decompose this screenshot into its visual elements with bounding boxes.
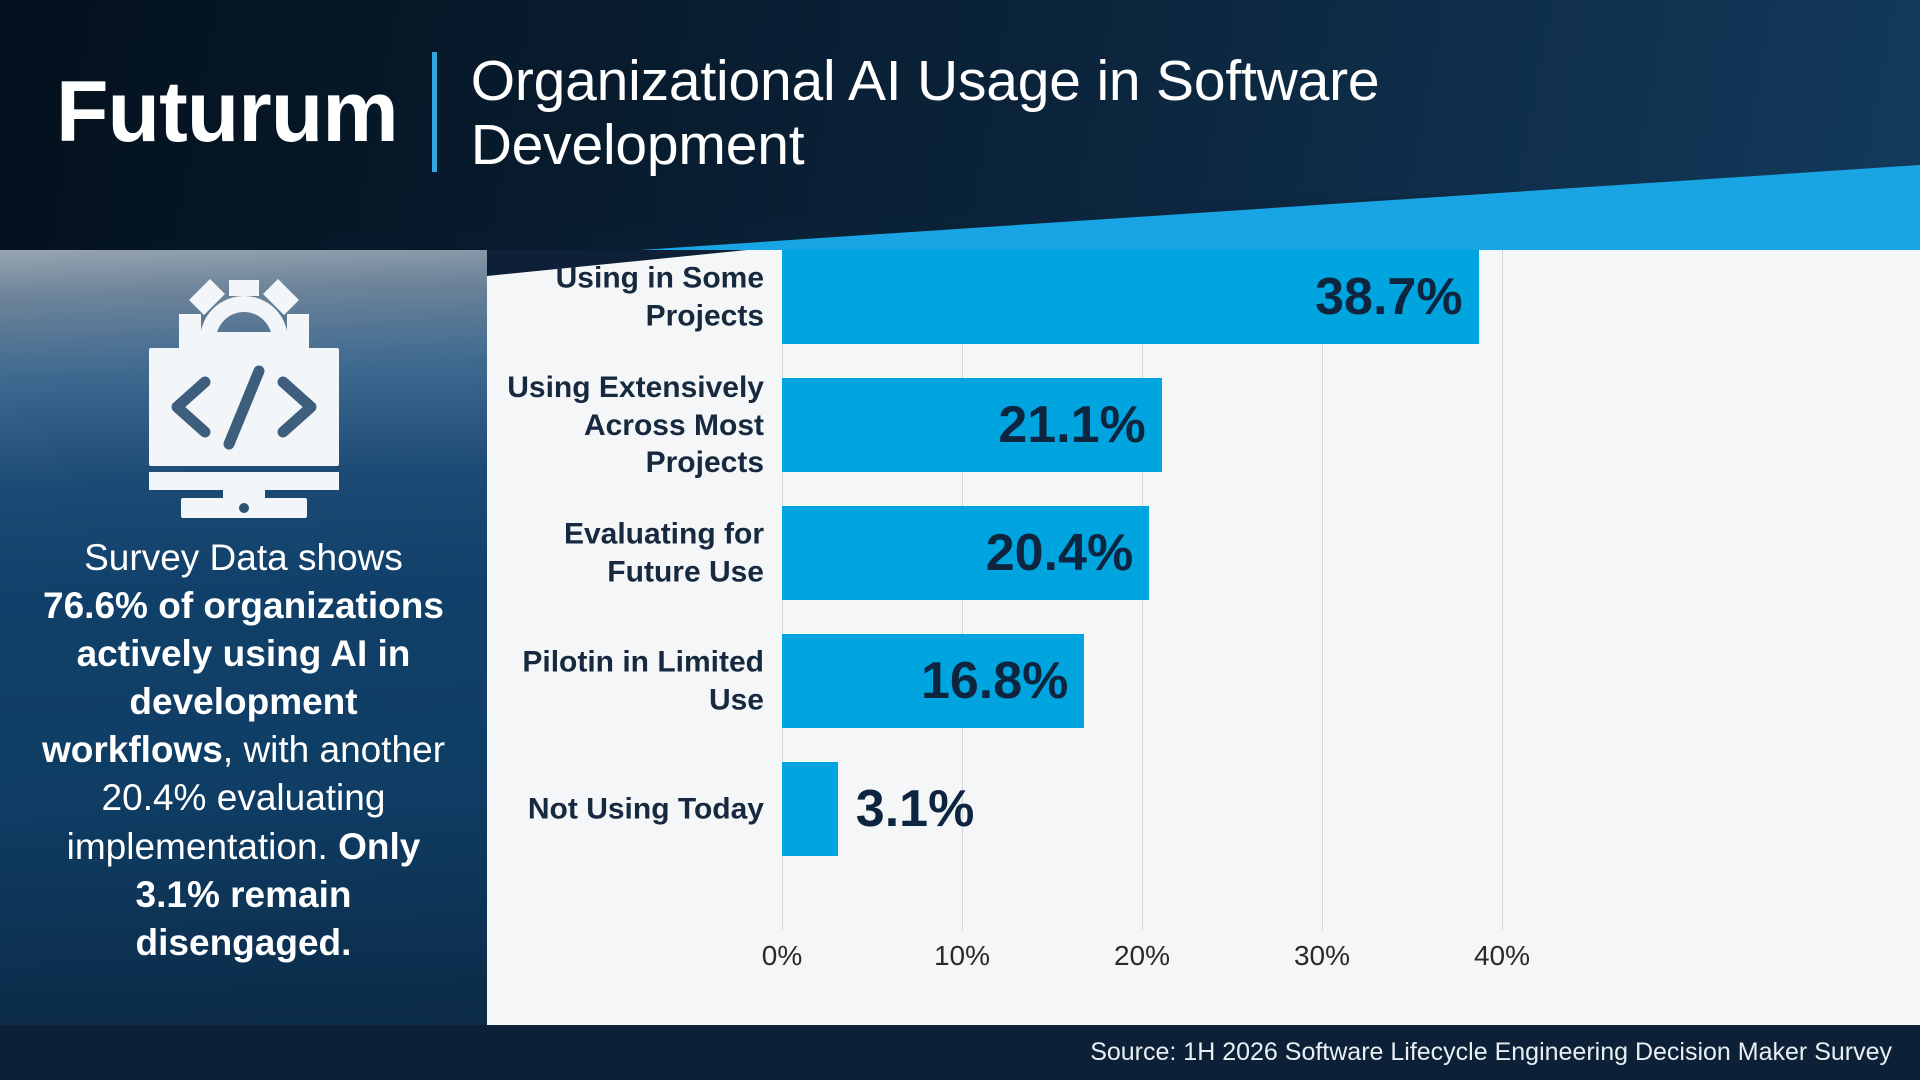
category-label: Not Using Today [487, 790, 764, 828]
category-label: Pilotin in Limited Use [487, 644, 764, 719]
x-axis-tick: 10% [934, 940, 990, 972]
bar-value-label: 16.8% [921, 655, 1084, 707]
chart-panel: Using in Some ProjectsUsing Extensively … [487, 250, 1920, 1025]
gridline-40 [1502, 250, 1503, 930]
bar-value-label: 3.1% [838, 783, 975, 835]
code-monitor-gear-icon [119, 270, 369, 520]
brand-logo: Futurum [56, 69, 398, 155]
plot-area: 38.7%21.1%20.4%16.8%3.1%0%10%20%30%40% [782, 250, 1502, 950]
bar-row[interactable]: 38.7% [782, 250, 1479, 344]
footer-bar: Source: 1H 2026 Software Lifecycle Engin… [0, 1025, 1920, 1080]
bar-row[interactable]: 20.4% [782, 506, 1149, 600]
callout-mid: , with another [223, 729, 445, 770]
x-axis-tick: 20% [1114, 940, 1170, 972]
bar-row[interactable]: 16.8% [782, 634, 1084, 728]
bar-chart: Using in Some ProjectsUsing Extensively … [487, 250, 1920, 1025]
bar-value-label: 21.1% [998, 399, 1161, 451]
page-title: Organizational AI Usage in Software Deve… [471, 50, 1551, 178]
bar[interactable]: 21.1% [782, 378, 1162, 472]
gridline-30 [1322, 250, 1323, 930]
logo-divider [432, 52, 437, 172]
x-axis-tick: 40% [1474, 940, 1530, 972]
category-label-column: Using in Some ProjectsUsing Extensively … [487, 250, 782, 950]
sidebar-callout-panel: Survey Data shows 76.6% of organizations… [0, 250, 487, 1025]
bar-row[interactable]: 21.1% [782, 378, 1162, 472]
category-label: Using in Some Projects [487, 260, 764, 335]
header-banner: Futurum Organizational AI Usage in Softw… [0, 0, 1920, 250]
bar[interactable]: 3.1% [782, 762, 838, 856]
callout-line-1: Survey Data shows [84, 537, 403, 578]
source-note: Source: 1H 2026 Software Lifecycle Engin… [1090, 1038, 1892, 1067]
x-axis-tick: 30% [1294, 940, 1350, 972]
category-label: Using Extensively Across Most Projects [487, 369, 764, 482]
infographic-root: Futurum Organizational AI Usage in Softw… [0, 0, 1920, 1080]
category-label: Evaluating for Future Use [487, 516, 764, 591]
bar-row[interactable]: 3.1% [782, 762, 838, 856]
bar-value-label: 38.7% [1315, 271, 1478, 323]
bar[interactable]: 20.4% [782, 506, 1149, 600]
bar[interactable]: 16.8% [782, 634, 1084, 728]
sidebar-callout-text: Survey Data shows 76.6% of organizations… [24, 534, 464, 967]
x-axis-tick: 0% [762, 940, 802, 972]
bar[interactable]: 38.7% [782, 250, 1479, 344]
bar-value-label: 20.4% [986, 527, 1149, 579]
